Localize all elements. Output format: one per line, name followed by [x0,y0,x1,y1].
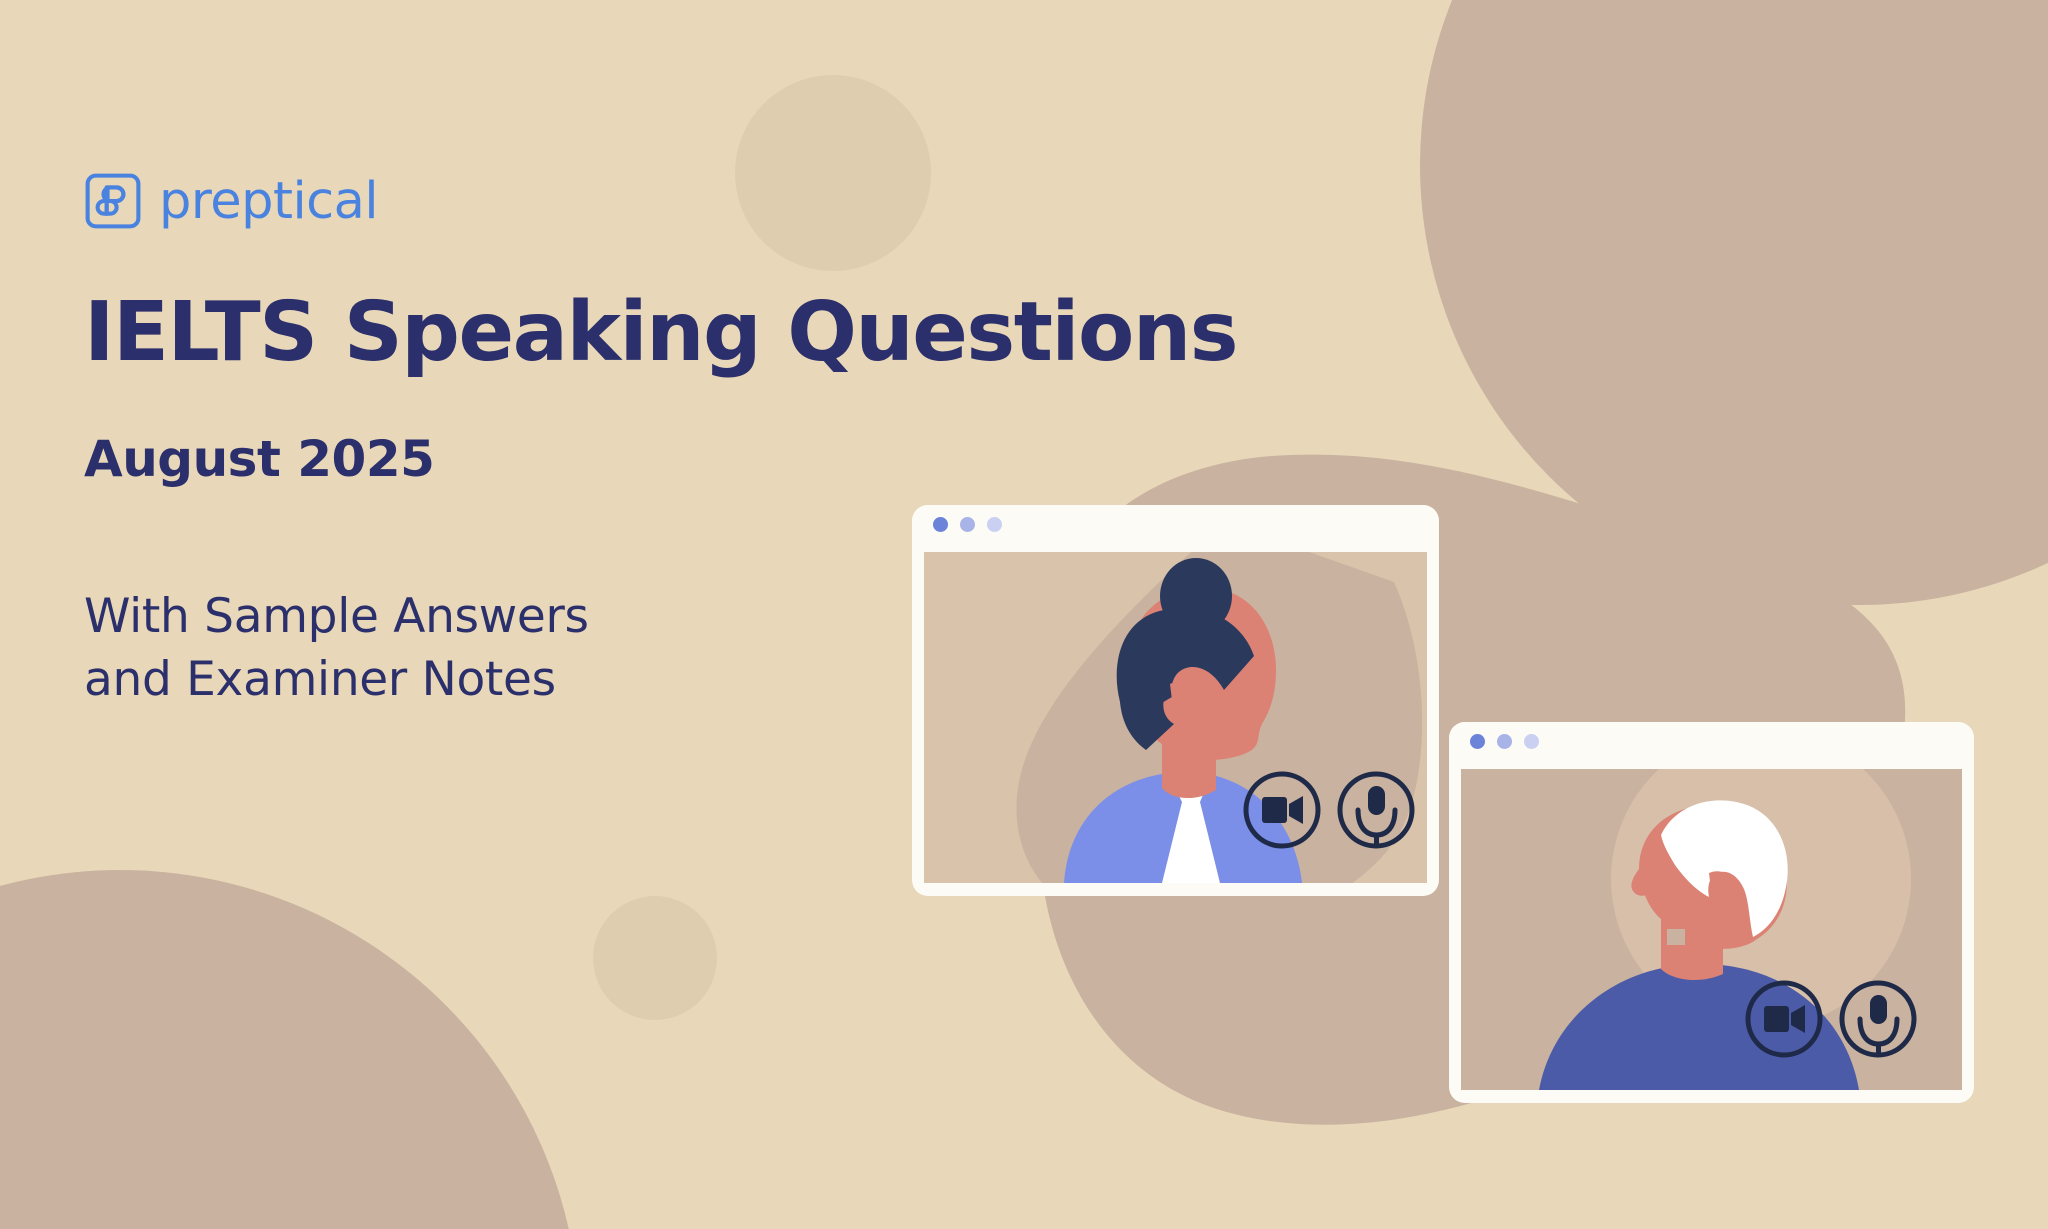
page-subtitle-date: August 2025 [84,434,434,484]
window-dot-3-icon[interactable] [987,517,1002,532]
person-jaw-notch [1667,929,1685,945]
decor-circle-upper-middle [735,75,931,271]
brand-name: preptical [159,176,378,227]
video-feed-candidate [924,552,1427,883]
tagline-line-2: and Examiner Notes [84,649,589,712]
camera-icon [1764,1005,1805,1033]
camera-icon [1262,796,1303,824]
video-call-window-candidate[interactable] [912,505,1439,896]
window-dot-2-icon[interactable] [1497,734,1512,749]
decor-circle-lower-middle [593,896,717,1020]
poster-canvas: preptical IELTS Speaking Questions Augus… [0,0,2048,1229]
video-call-window-examiner[interactable] [1449,722,1974,1103]
window-dot-1-icon[interactable] [933,517,948,532]
window-dot-1-icon[interactable] [1470,734,1485,749]
window-dot-2-icon[interactable] [960,517,975,532]
page-tagline: With Sample Answers and Examiner Notes [84,586,589,711]
brand-logo[interactable]: preptical [84,172,378,230]
window-dot-3-icon[interactable] [1524,734,1539,749]
page-title: IELTS Speaking Questions [84,292,1237,374]
video-feed-examiner [1461,769,1962,1090]
window-chrome-bar [912,505,1439,543]
preptical-p-mark-icon [84,172,142,230]
tagline-line-1: With Sample Answers [84,586,589,649]
window-chrome-bar [1449,722,1974,760]
